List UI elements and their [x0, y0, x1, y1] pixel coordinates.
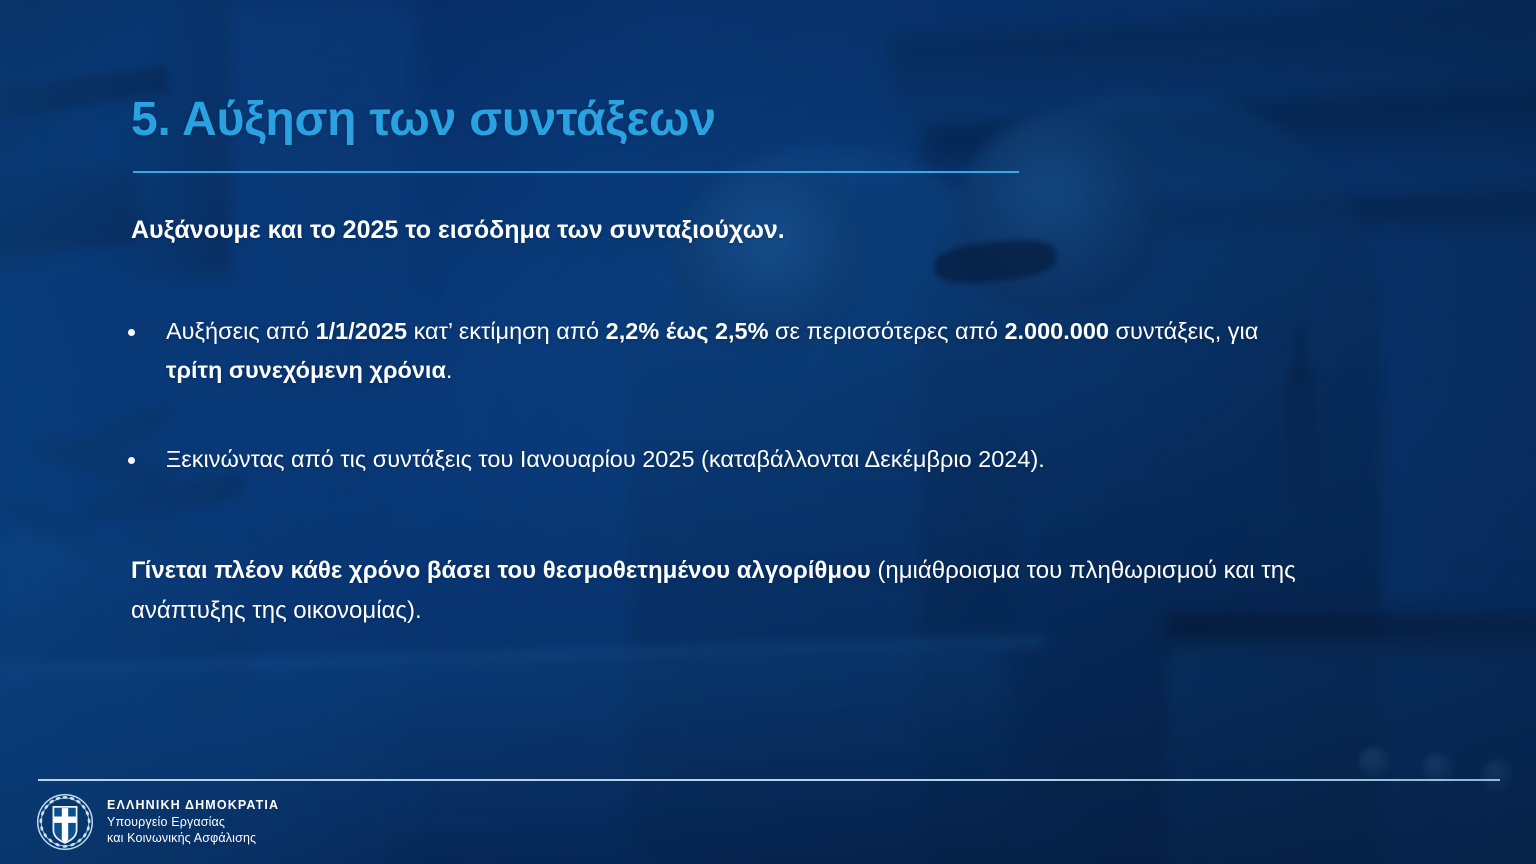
footer-ministry-line-2: και Κοινωνικής Ασφάλισης — [107, 830, 279, 847]
slide-closing-statement: Γίνεται πλέον κάθε χρόνο βάσει του θεσμο… — [131, 551, 1371, 631]
bullet-dot-icon — [128, 329, 135, 336]
footer-organization: ΕΛΛΗΝΙΚΗ ΔΗΜΟΚΡΑΤΙΑ — [107, 797, 279, 814]
footer: ΕΛΛΗΝΙΚΗ ΔΗΜΟΚΡΑΤΙΑ Υπουργείο Εργασίας κ… — [36, 793, 279, 851]
greek-coat-of-arms-icon — [36, 793, 94, 851]
slide-lead-statement: Αυξάνουμε και το 2025 το εισόδημα των συ… — [131, 216, 785, 245]
title-underline-rule — [133, 171, 1019, 173]
bullet-item-2: Ξεκινώντας από τις συντάξεις του Ιανουαρ… — [125, 440, 1305, 479]
bullet-item-1-text: Αυξήσεις από 1/1/2025 κατ’ εκτίμηση από … — [166, 318, 1258, 383]
closing-text: Γίνεται πλέον κάθε χρόνο βάσει του θεσμο… — [131, 557, 1296, 624]
bullet-list: Αυξήσεις από 1/1/2025 κατ’ εκτίμηση από … — [125, 312, 1305, 479]
footer-ministry-line-1: Υπουργείο Εργασίας — [107, 814, 279, 831]
slide-title: 5. Αύξηση των συντάξεων — [131, 92, 716, 147]
footer-divider — [38, 779, 1500, 781]
bullet-item-2-text: Ξεκινώντας από τις συντάξεις του Ιανουαρ… — [166, 446, 1045, 472]
footer-text-block: ΕΛΛΗΝΙΚΗ ΔΗΜΟΚΡΑΤΙΑ Υπουργείο Εργασίας κ… — [107, 797, 279, 847]
slide-content: 5. Αύξηση των συντάξεων Αυξάνουμε και το… — [0, 0, 1536, 864]
bullet-item-1: Αυξήσεις από 1/1/2025 κατ’ εκτίμηση από … — [125, 312, 1305, 390]
bullet-dot-icon — [128, 457, 135, 464]
presentation-slide: 5. Αύξηση των συντάξεων Αυξάνουμε και το… — [0, 0, 1536, 864]
